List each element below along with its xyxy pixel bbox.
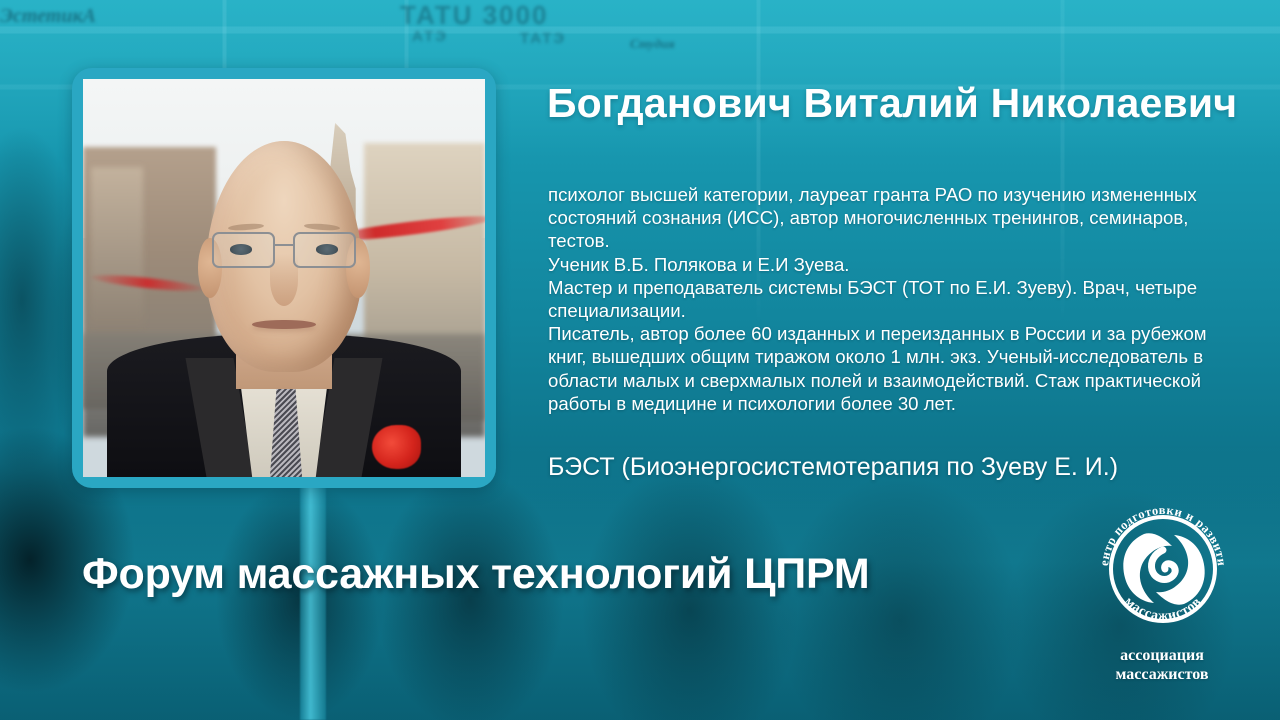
- photo-glasses-bridge: [275, 244, 292, 246]
- speaker-method: БЭСТ (Биоэнергосистемотерапия по Зуеву Е…: [548, 452, 1248, 482]
- slide-canvas: ЭстетикАTATU 3000АТЭТАТЭСтудия: [0, 0, 1280, 720]
- speaker-bio: психолог высшей категории, лауреат грант…: [548, 183, 1248, 415]
- svg-text:массажистов: массажистов: [1121, 594, 1205, 624]
- forum-title: Форум массажных технологий ЦПРМ: [82, 548, 870, 600]
- bio-paragraph: Ученик В.Б. Полякова и Е.И Зуева.: [548, 253, 1248, 276]
- bio-paragraph: Мастер и преподаватель системы БЭСТ (ТОТ…: [548, 276, 1248, 322]
- logo-caption-line-2: массажистов: [1078, 665, 1246, 684]
- logo-arc-bottom-text: массажистов: [1121, 594, 1205, 624]
- bio-paragraph: Писатель, автор более 60 изданных и пере…: [548, 322, 1248, 415]
- speaker-name: Богданович Виталий Николаевич: [547, 78, 1247, 128]
- photo-stand-pole: [300, 484, 326, 720]
- hands-icon: центр подготовки и развития массажистов: [1092, 498, 1234, 640]
- photo-lens-left: [212, 232, 276, 268]
- photo-glasses: [212, 232, 357, 268]
- speaker-photo: [83, 79, 485, 477]
- logo-caption: ассоциация массажистов: [1078, 646, 1246, 684]
- photo-lens-right: [293, 232, 357, 268]
- logo-caption-line-1: ассоциация: [1078, 646, 1246, 665]
- bio-paragraph: психолог высшей категории, лауреат грант…: [548, 183, 1248, 253]
- association-logo: центр подготовки и развития массажистов …: [1078, 498, 1246, 694]
- photo-building-left-2: [91, 167, 143, 326]
- photo-boutonniere: [372, 425, 420, 469]
- speaker-photo-frame: [72, 68, 496, 488]
